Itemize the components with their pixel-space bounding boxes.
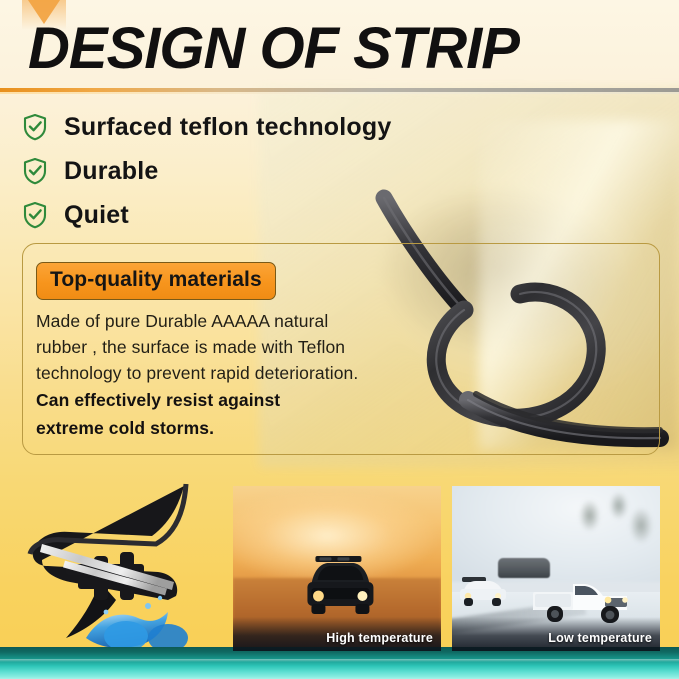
- panel-paragraph-line: rubber , the surface is made with Teflon: [36, 334, 396, 360]
- snow-trees: [573, 489, 656, 565]
- panel-paragraph-line: Made of pure Durable AAAAA natural: [36, 308, 396, 334]
- panel-emphasis-line: extreme cold storms.: [36, 414, 396, 442]
- page-title: DESIGN OF STRIP: [28, 17, 519, 81]
- list-item-label: Surfaced teflon technology: [64, 113, 391, 142]
- snow-truck-photo: Low temperature: [452, 486, 660, 651]
- shield-check-icon: [22, 201, 48, 229]
- suv-silhouette-icon: [297, 554, 383, 618]
- list-item: Surfaced teflon technology: [22, 105, 582, 149]
- panel-paragraph-line: technology to prevent rapid deterioratio…: [36, 360, 396, 386]
- feature-list: Surfaced teflon technology Durable Quiet: [22, 105, 582, 237]
- white-suv-icon: [456, 576, 512, 608]
- desert-truck-photo: High temperature: [233, 486, 441, 651]
- list-item-label: Quiet: [64, 201, 129, 230]
- footer-bar-gloss: [0, 659, 679, 662]
- panel-emphasis-line: Can effectively resist against: [36, 386, 396, 414]
- wiper-blade-cross-section: [8, 478, 220, 658]
- panel-text: Made of pure Durable AAAAA natural rubbe…: [36, 308, 396, 442]
- photo-caption: Low temperature: [548, 631, 652, 645]
- product-infographic: DESIGN OF STRIP Surfaced teflon technolo…: [0, 0, 679, 679]
- shield-check-icon: [22, 113, 48, 141]
- shield-check-icon: [22, 157, 48, 185]
- list-item: Durable: [22, 149, 582, 193]
- panel-badge: Top-quality materials: [36, 262, 276, 300]
- footer-bar: [0, 647, 679, 679]
- title-divider-shadow: [0, 92, 679, 94]
- list-item-label: Durable: [64, 157, 158, 186]
- photo-caption: High temperature: [326, 631, 433, 645]
- list-item: Quiet: [22, 193, 582, 237]
